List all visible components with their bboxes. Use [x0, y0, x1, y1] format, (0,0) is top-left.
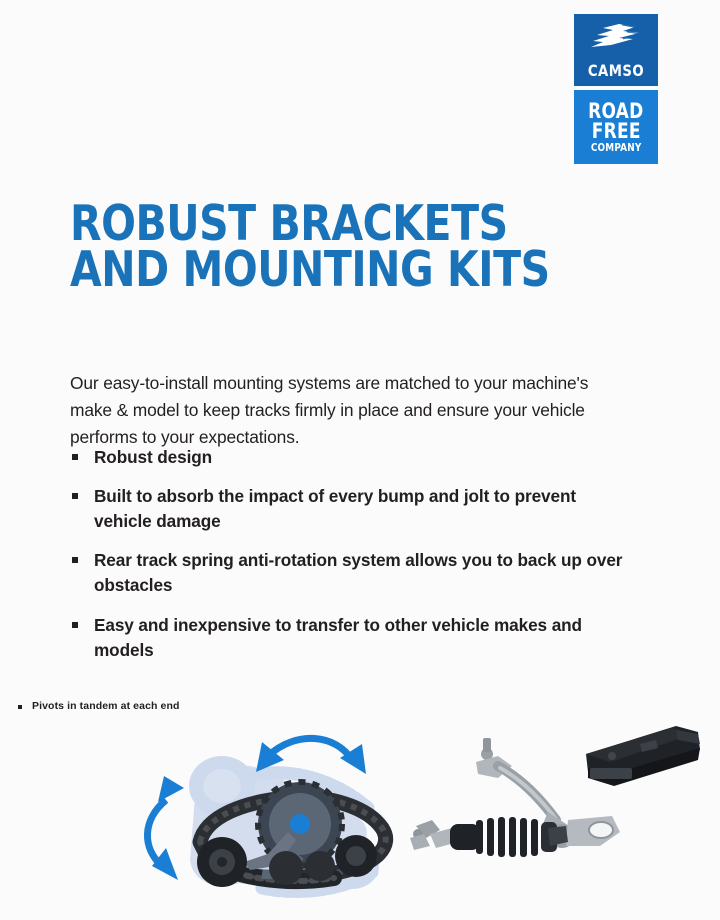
intro-paragraph: Our easy-to-install mounting systems are…	[70, 370, 630, 450]
camso-wordmark: CAMSO	[577, 63, 654, 79]
bullet-square-icon	[72, 557, 78, 563]
pivot-arrow-left-icon	[147, 776, 184, 880]
list-item: Rear track spring anti-rotation system a…	[70, 548, 630, 598]
list-item: Built to absorb the impact of every bump…	[70, 484, 630, 534]
badge-line-free: FREE	[591, 121, 640, 141]
feature-bullet-list: Robust design Built to absorb the impact…	[70, 445, 630, 677]
bullet-square-icon	[72, 622, 78, 628]
mounting-bracket-photo	[586, 726, 700, 786]
coil-spring	[476, 817, 538, 857]
bullet-square-icon	[72, 493, 78, 499]
list-item-label: Rear track spring anti-rotation system a…	[94, 550, 622, 595]
brand-logo-stack: CAMSO ROAD FREE COMPANY	[574, 14, 658, 164]
camso-chevron-mark-icon	[589, 23, 643, 53]
list-item-label: Easy and inexpensive to transfer to othe…	[94, 615, 582, 660]
list-item: Easy and inexpensive to transfer to othe…	[70, 613, 630, 663]
page-title: ROBUST BRACKETS AND MOUNTING KITS	[70, 201, 550, 293]
headline-line-2: AND MOUNTING KITS	[70, 247, 550, 293]
bullet-square-icon	[72, 454, 78, 460]
list-item: Robust design	[70, 445, 630, 470]
road-free-company-badge: ROAD FREE COMPANY	[574, 90, 658, 164]
figure-area	[0, 716, 720, 920]
list-item-label: Built to absorb the impact of every bump…	[94, 486, 576, 531]
figure-caption-label: Pivots in tandem at each end	[32, 700, 180, 712]
pivot-point-marker	[290, 814, 310, 834]
badge-line-road: ROAD	[588, 101, 643, 121]
figure-caption: Pivots in tandem at each end	[18, 700, 180, 712]
spring-damper-photo	[410, 817, 568, 857]
camso-logo-tile: CAMSO	[574, 14, 658, 86]
list-item-label: Robust design	[94, 447, 212, 467]
badge-line-company: COMPANY	[591, 143, 642, 154]
track-system-pivot-diagram	[0, 716, 720, 920]
bullet-square-icon	[18, 705, 22, 709]
